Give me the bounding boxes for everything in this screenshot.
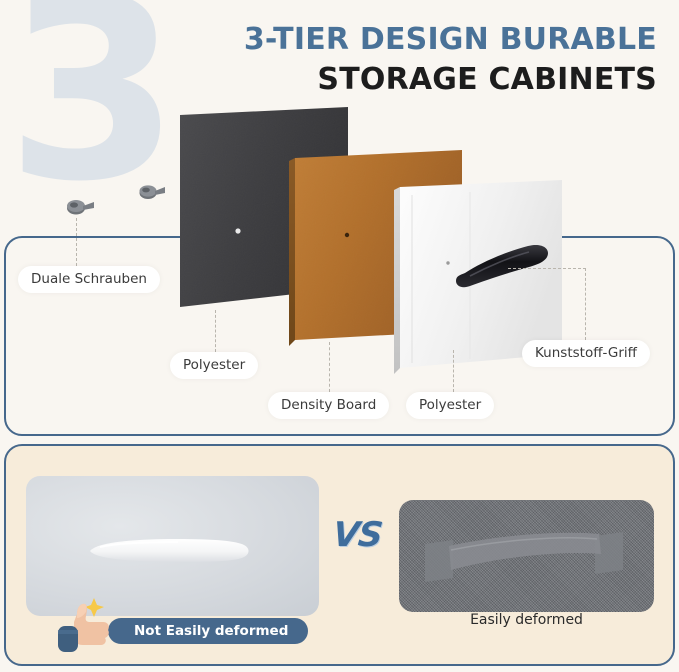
callout-duale-schrauben: Duale Schrauben bbox=[18, 266, 160, 293]
connector-polyester-right bbox=[453, 350, 454, 392]
connector-kunststoff-griff bbox=[585, 268, 586, 340]
thumbs-up-icon bbox=[53, 594, 115, 660]
connector-density-board bbox=[329, 342, 330, 392]
headline-line-1: 3-TIER DESIGN BURABLE bbox=[244, 22, 657, 57]
vs-divider: VS bbox=[331, 515, 384, 555]
ghost-number-3: 3 bbox=[6, 0, 174, 216]
bad-panel-photo bbox=[399, 500, 654, 612]
not-easily-deformed-badge: Not Easily deformed bbox=[108, 618, 308, 644]
connector-polyester-left bbox=[215, 310, 216, 352]
callout-polyester-left: Polyester bbox=[170, 352, 258, 379]
page-title: 3-TIER DESIGN BURABLE STORAGE CABINETS bbox=[244, 22, 657, 97]
headline-line-2: STORAGE CABINETS bbox=[244, 62, 657, 97]
callout-kunststoff-griff: Kunststoff-Griff bbox=[522, 340, 650, 367]
callout-density-board: Density Board bbox=[268, 392, 389, 419]
easily-deformed-caption: Easily deformed bbox=[399, 612, 654, 628]
connector-kunststoff-griff-horizontal bbox=[508, 268, 586, 269]
fabric-strap-handle bbox=[399, 500, 654, 612]
connector-duale-schrauben bbox=[76, 218, 77, 266]
infographic-page: 3 3-TIER DESIGN BURABLE STORAGE CABINETS bbox=[0, 0, 679, 672]
callout-polyester-right: Polyester bbox=[406, 392, 494, 419]
